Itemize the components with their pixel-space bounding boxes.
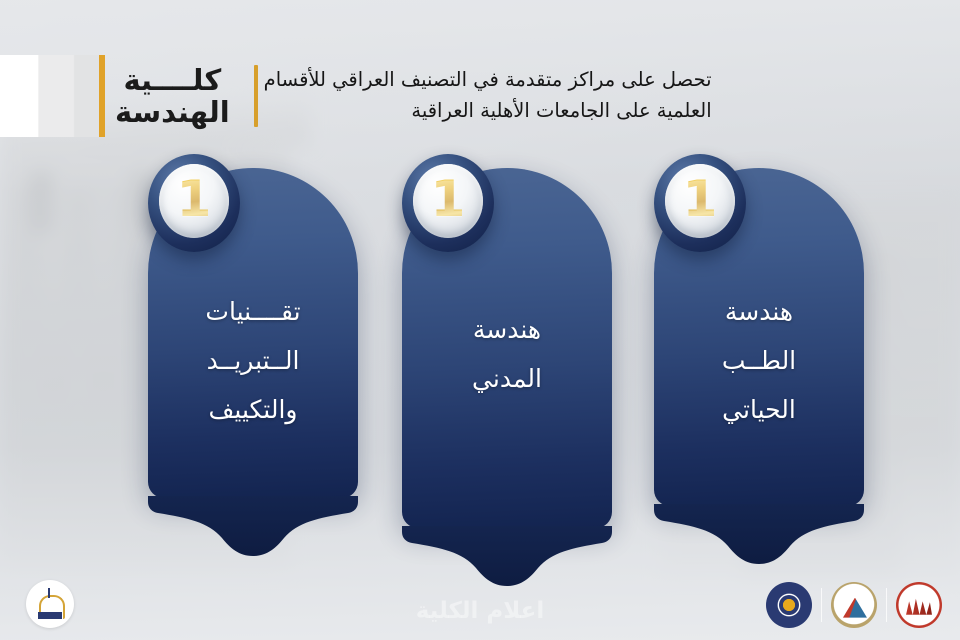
- card-body: 1 هندسة المدني: [402, 168, 612, 528]
- card-title-line3: الحياتي: [666, 386, 852, 435]
- card-title-line1: هندسة: [414, 306, 600, 355]
- headline-line2: العلمية على الجامعات الأهلية العراقية: [264, 96, 712, 127]
- logo-divider: [821, 588, 822, 622]
- rank-badge-icon: 1: [402, 154, 494, 252]
- card-body: 1 تقــــنيات الــتبريــد والتكييف: [148, 168, 358, 498]
- gold-edge-bar: [99, 55, 105, 137]
- college-name-line1: كلــــية: [115, 64, 230, 96]
- rank-badge-icon: 1: [148, 154, 240, 252]
- card-title: هندسة المدني: [402, 306, 612, 404]
- card-title-line3: والتكييف: [160, 386, 346, 435]
- rank-number: 1: [177, 174, 212, 224]
- card-title-line2: الــتبريــد: [160, 337, 346, 386]
- institution-dome-logo: [26, 580, 74, 628]
- card-title-line1: تقــــنيات: [160, 288, 346, 337]
- ranking-card-refrigeration[interactable]: 1 تقــــنيات الــتبريــد والتكييف: [148, 168, 358, 558]
- footer: اعلام الكلية: [0, 568, 960, 640]
- gold-divider-rule: [254, 65, 258, 127]
- ministry-seal-logo: [766, 582, 812, 628]
- infographic-canvas: كلــــية الهندسة تحصل على مراكز متقدمة ف…: [0, 0, 960, 640]
- college-name: كلــــية الهندسة: [105, 64, 244, 129]
- card-title-line2: المدني: [414, 355, 600, 404]
- brand-panel: [0, 55, 105, 137]
- ranking-card-biomedical[interactable]: 1 هندسة الطــب الحياتي: [654, 168, 864, 566]
- card-title: هندسة الطــب الحياتي: [654, 288, 864, 434]
- rank-number: 1: [431, 174, 466, 224]
- card-title-line1: هندسة: [666, 288, 852, 337]
- card-body: 1 هندسة الطــب الحياتي: [654, 168, 864, 506]
- partner-logos: [766, 582, 942, 628]
- dome-icon: [36, 589, 64, 619]
- card-pointer: [654, 504, 864, 566]
- rank-badge-icon: 1: [654, 154, 746, 252]
- logo-divider: [886, 588, 887, 622]
- card-pointer: [148, 496, 358, 558]
- rank-number: 1: [683, 174, 718, 224]
- header: كلــــية الهندسة تحصل على مراكز متقدمة ف…: [0, 48, 960, 144]
- card-title-line2: الطــب: [666, 337, 852, 386]
- university-seal-logo: [831, 582, 877, 628]
- card-title: تقــــنيات الــتبريــد والتكييف: [148, 288, 358, 434]
- badge-face: 1: [665, 164, 735, 238]
- ranking-card-civil[interactable]: 1 هندسة المدني: [402, 168, 612, 588]
- ranking-cards: 1 تقــــنيات الــتبريــد والتكييف: [0, 168, 960, 568]
- headline-line1: تحصل على مراكز متقدمة في التصنيف العراقي…: [264, 65, 712, 96]
- college-name-line2: الهندسة: [115, 96, 230, 128]
- badge-face: 1: [159, 164, 229, 238]
- watermark-text: اعلام الكلية: [416, 598, 545, 624]
- headline: تحصل على مراكز متقدمة في التصنيف العراقي…: [264, 65, 716, 127]
- college-seal-logo: [896, 582, 942, 628]
- badge-face: 1: [413, 164, 483, 238]
- dome-base: [38, 612, 62, 619]
